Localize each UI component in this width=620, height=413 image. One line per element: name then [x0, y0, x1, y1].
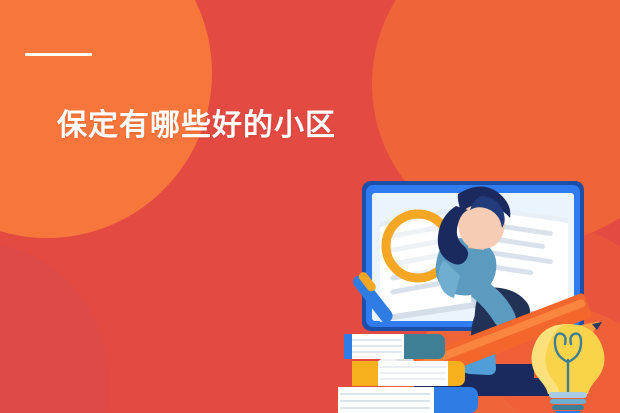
- title-accent-rule: [25, 53, 92, 56]
- lightbulb-icon: [532, 324, 605, 413]
- article-cover-banner: 保定有哪些好的小区: [0, 0, 620, 413]
- cover-illustration: [330, 176, 620, 413]
- page-title: 保定有哪些好的小区: [57, 106, 336, 146]
- background-blob-bottom-left: [0, 243, 110, 413]
